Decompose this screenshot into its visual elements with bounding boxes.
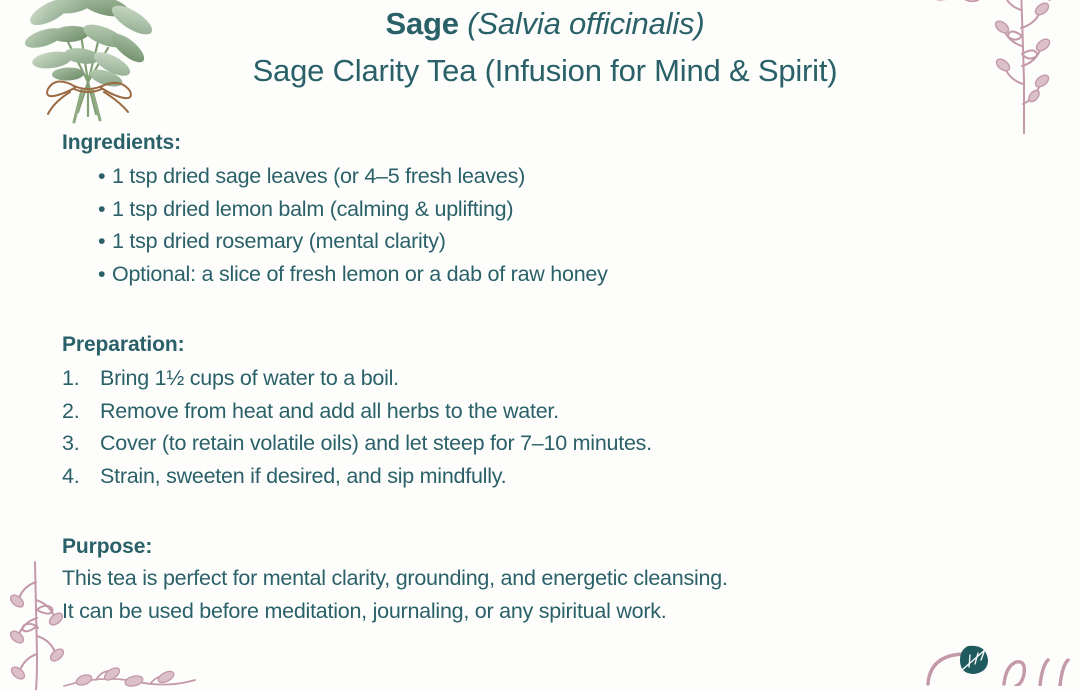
step-text: Remove from heat and add all herbs to th… [100,395,559,428]
ingredients-list: •1 tsp dried sage leaves (or 4–5 fresh l… [62,160,1042,290]
list-item: 3.Cover (to retain volatile oils) and le… [62,427,1042,460]
bullet-icon: • [98,193,112,226]
ingredient-text: 1 tsp dried sage leaves (or 4–5 fresh le… [112,164,525,188]
brand-logo [912,640,1080,686]
list-item: •Optional: a slice of fresh lemon or a d… [98,258,1042,291]
recipe-subtitle: Sage Clarity Tea (Infusion for Mind & Sp… [150,48,940,94]
spacer [62,492,1042,532]
step-text: Cover (to retain volatile oils) and let … [100,427,652,460]
ingredient-text: Optional: a slice of fresh lemon or a da… [112,262,608,286]
step-number: 3. [62,427,100,460]
preparation-heading: Preparation: [62,330,1042,360]
vine-right-icon [990,0,1054,134]
plant-scientific-name: (Salvia officinalis) [467,6,704,41]
ingredient-text: 1 tsp dried rosemary (mental clarity) [112,229,446,253]
recipe-card: Sage (Salvia officinalis) Sage Clarity T… [0,0,1080,675]
plant-common-name: Sage [386,6,459,41]
ingredients-section: Ingredients: •1 tsp dried sage leaves (o… [62,128,1042,290]
purpose-body: This tea is perfect for mental clarity, … [62,562,1042,627]
step-text: Bring 1½ cups of water to a boil. [100,362,399,395]
list-item: •1 tsp dried sage leaves (or 4–5 fresh l… [98,160,1042,193]
purpose-line: This tea is perfect for mental clarity, … [62,562,1042,595]
list-item: 4.Strain, sweeten if desired, and sip mi… [62,460,1042,493]
step-number: 1. [62,362,100,395]
bullet-icon: • [98,258,112,291]
page-title: Sage (Salvia officinalis) [150,0,940,48]
list-item: •1 tsp dried lemon balm (calming & uplif… [98,193,1042,226]
step-number: 4. [62,460,100,493]
purpose-heading: Purpose: [62,532,1042,562]
spacer [62,290,1042,330]
ingredient-text: 1 tsp dried lemon balm (calming & uplift… [112,197,513,221]
ingredients-heading: Ingredients: [62,128,1042,158]
list-item: 1.Bring 1½ cups of water to a boil. [62,362,1042,395]
bullet-icon: • [98,225,112,258]
purpose-section: Purpose: This tea is perfect for mental … [62,532,1042,627]
step-text: Strain, sweeten if desired, and sip mind… [100,460,506,493]
step-number: 2. [62,395,100,428]
preparation-section: Preparation: 1.Bring 1½ cups of water to… [62,330,1042,492]
purpose-line: It can be used before meditation, journa… [62,595,1042,628]
list-item: 2.Remove from heat and add all herbs to … [62,395,1042,428]
preparation-list: 1.Bring 1½ cups of water to a boil. 2.Re… [62,362,1042,492]
card-body: Ingredients: •1 tsp dried sage leaves (o… [62,128,1042,627]
list-item: •1 tsp dried rosemary (mental clarity) [98,225,1042,258]
bullet-icon: • [98,160,112,193]
sprig-bottom-left-icon [62,652,197,692]
vine-left-icon [8,560,64,690]
card-header: Sage (Salvia officinalis) Sage Clarity T… [150,0,940,94]
